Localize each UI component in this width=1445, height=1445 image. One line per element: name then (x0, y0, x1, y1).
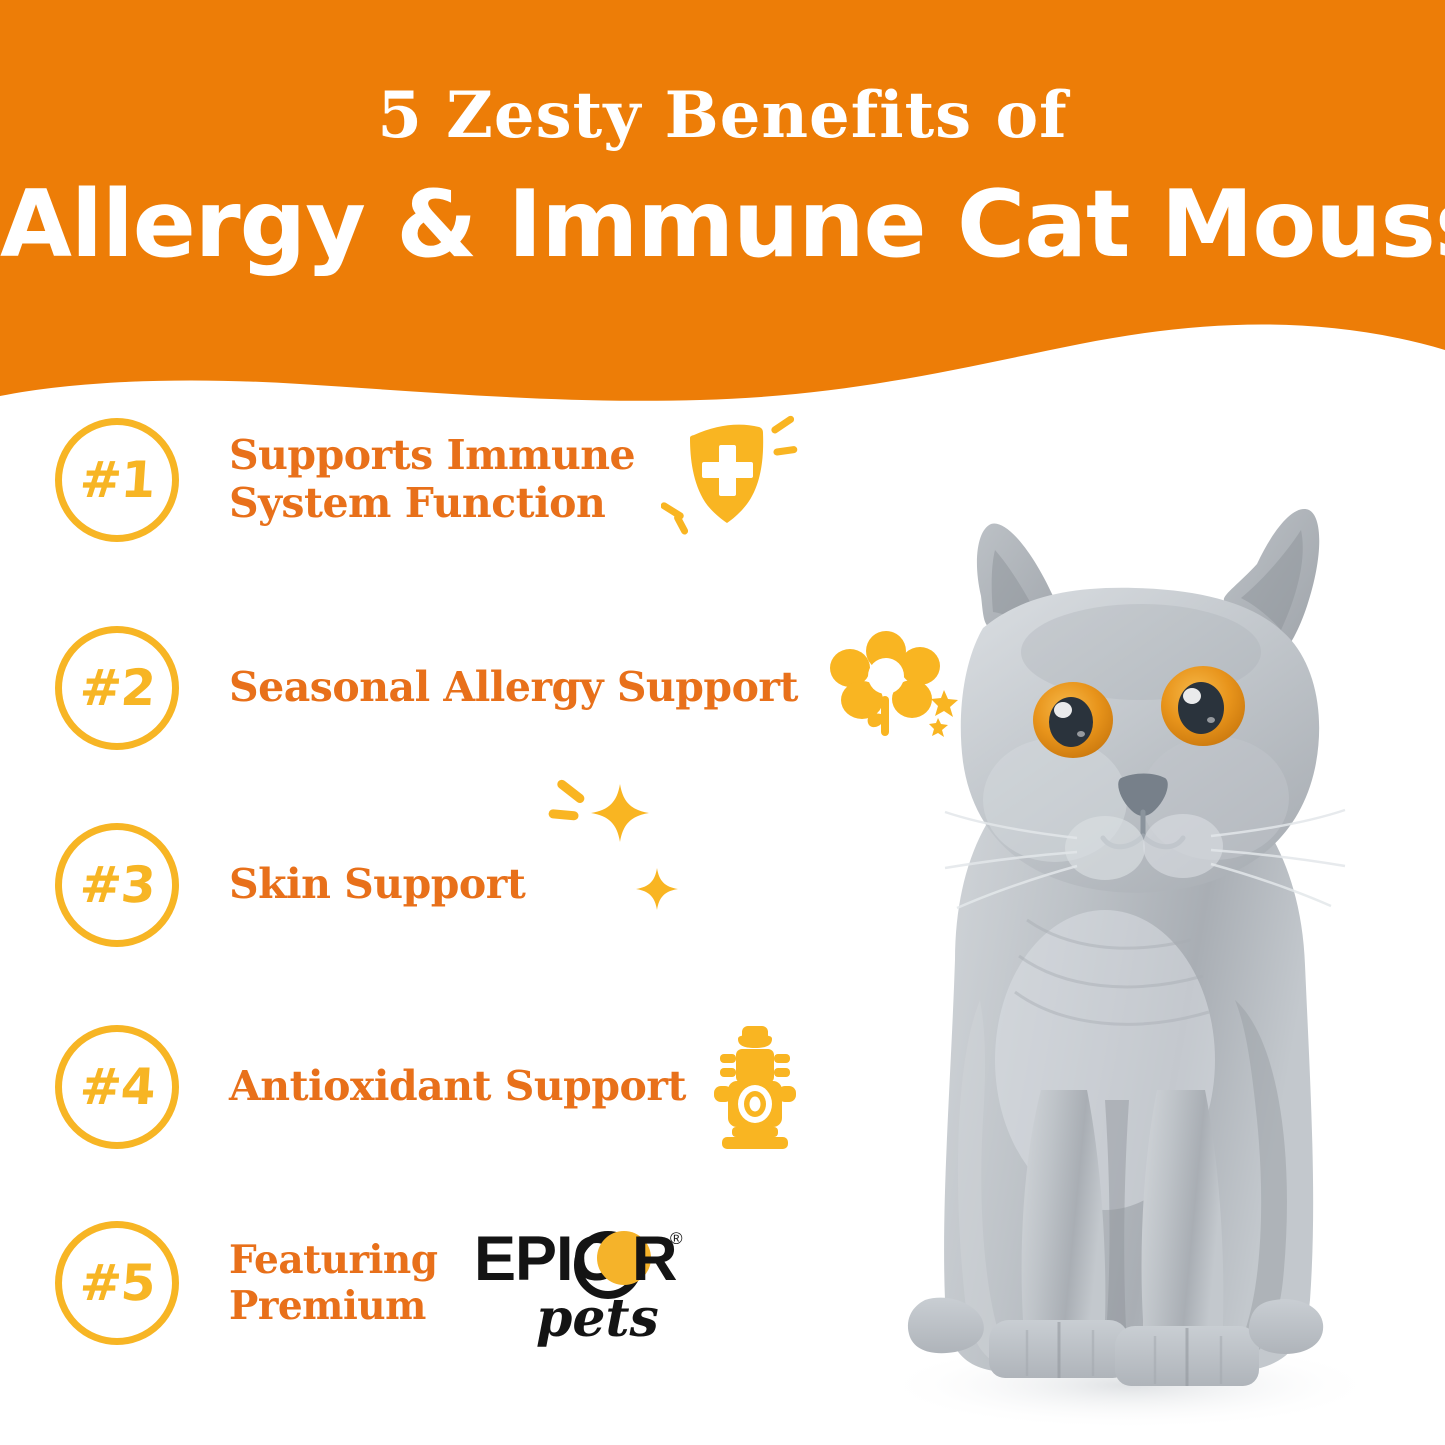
benefit-text-3: Skin Support (229, 861, 525, 909)
benefit-content-4: Antioxidant Support (229, 1023, 798, 1151)
sparkle-icon (545, 834, 705, 936)
benefit-text-4: Antioxidant Support (229, 1063, 686, 1111)
benefit-number-badge-2: #2 (55, 626, 179, 750)
benefit-item-4: #4 Antioxidant Support (55, 1012, 798, 1162)
benefit-item-1: #1 Supports Immune System Function (55, 405, 811, 555)
page-subtitle: 5 Zesty Benefits of (0, 84, 1445, 148)
benefit-number-badge-4: #4 (55, 1025, 179, 1149)
cat-eye-right (1161, 666, 1245, 746)
benefit-content-1: Supports Immune System Function (229, 413, 811, 548)
benefit-number-label: #5 (78, 1258, 156, 1308)
infographic-poster: 5 Zesty Benefits of Allergy & Immune Cat… (0, 0, 1445, 1445)
benefit-number-badge-1: #1 (55, 418, 179, 542)
header-banner: 5 Zesty Benefits of Allergy & Immune Cat… (0, 0, 1445, 420)
page-title: Allergy & Immune Cat Mousse (0, 178, 1445, 271)
benefit-content-5: Featuring Premium EPIC R ® pets (229, 1218, 689, 1348)
logo-registered-mark: ® (670, 1229, 683, 1248)
cat-eye-left (1033, 682, 1113, 758)
logo-sub-wordmark: pets (536, 1288, 659, 1348)
benefit-content-3: Skin Support (229, 834, 705, 936)
benefit-number-label: #2 (78, 663, 156, 713)
benefit-text-2: Seasonal Allergy Support (229, 664, 798, 712)
fire-hydrant-icon (712, 1023, 798, 1151)
benefit-text-1: Supports Immune System Function (229, 432, 635, 527)
benefit-number-badge-3: #3 (55, 823, 179, 947)
benefit-item-3: #3 Skin Support (55, 810, 705, 960)
benefit-text-5: Featuring Premium (229, 1237, 438, 1329)
benefit-item-5: #5 Featuring Premium EPIC R ® pets (55, 1208, 689, 1358)
benefit-number-label: #4 (78, 1062, 156, 1112)
cat-photo (805, 400, 1445, 1445)
benefit-number-label: #1 (78, 455, 156, 505)
shield-plus-icon (661, 413, 811, 548)
benefit-number-label: #3 (78, 860, 156, 910)
cat-illustration (805, 400, 1445, 1445)
benefit-number-badge-5: #5 (55, 1221, 179, 1345)
header-text-group: 5 Zesty Benefits of Allergy & Immune Cat… (0, 0, 1445, 340)
epicor-pets-logo: EPIC R ® pets (474, 1218, 689, 1348)
